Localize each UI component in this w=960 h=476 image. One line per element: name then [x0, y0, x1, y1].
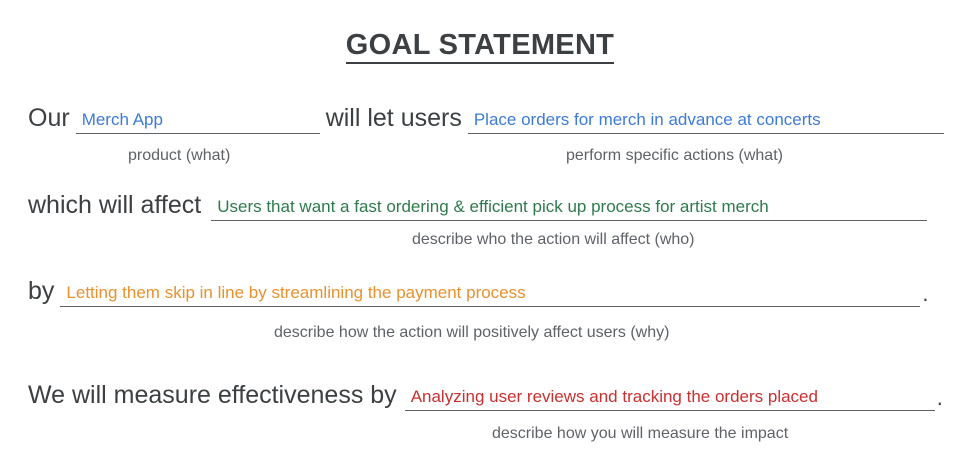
line3-period: . — [922, 283, 928, 307]
line1-lead-text: Our — [28, 106, 70, 134]
benefit-value: Letting them skip in line by streamlinin… — [60, 284, 525, 306]
product-hint-label: product (what) — [128, 148, 230, 164]
product-blank[interactable]: Merch App — [76, 104, 320, 134]
audience-hint-label: describe who the action will affect (who… — [412, 232, 695, 248]
statement-line-2: which will affect Users that want a fast… — [28, 191, 927, 221]
statement-line-4: We will measure effectiveness by Analyzi… — [28, 381, 943, 411]
line3-lead-text: by — [28, 279, 54, 307]
line2-lead-text: which will affect — [28, 193, 201, 221]
line1-middle-text: will let users — [320, 106, 462, 134]
statement-line-1: Our Merch App will let users Place order… — [28, 104, 944, 134]
action-hint-label: perform specific actions (what) — [566, 148, 783, 164]
line4-lead-text: We will measure effectiveness by — [28, 383, 397, 411]
benefit-hint-label: describe how the action will positively … — [274, 325, 669, 341]
benefit-blank[interactable]: Letting them skip in line by streamlinin… — [60, 277, 920, 307]
measure-value: Analyzing user reviews and tracking the … — [405, 388, 818, 410]
statement-line-3: by Letting them skip in line by streamli… — [28, 277, 929, 307]
action-blank[interactable]: Place orders for merch in advance at con… — [468, 104, 944, 134]
product-value: Merch App — [76, 111, 163, 133]
goal-statement-sheet: GOAL STATEMENT Our Merch App will let us… — [0, 0, 960, 476]
page-title-container: GOAL STATEMENT — [0, 30, 960, 64]
action-value: Place orders for merch in advance at con… — [468, 111, 821, 133]
audience-value: Users that want a fast ordering & effici… — [211, 198, 768, 220]
page-title: GOAL STATEMENT — [346, 30, 614, 64]
audience-blank[interactable]: Users that want a fast ordering & effici… — [211, 191, 927, 221]
measure-hint-label: describe how you will measure the impact — [492, 426, 788, 442]
measure-blank[interactable]: Analyzing user reviews and tracking the … — [405, 381, 935, 411]
line4-period: . — [937, 387, 943, 411]
